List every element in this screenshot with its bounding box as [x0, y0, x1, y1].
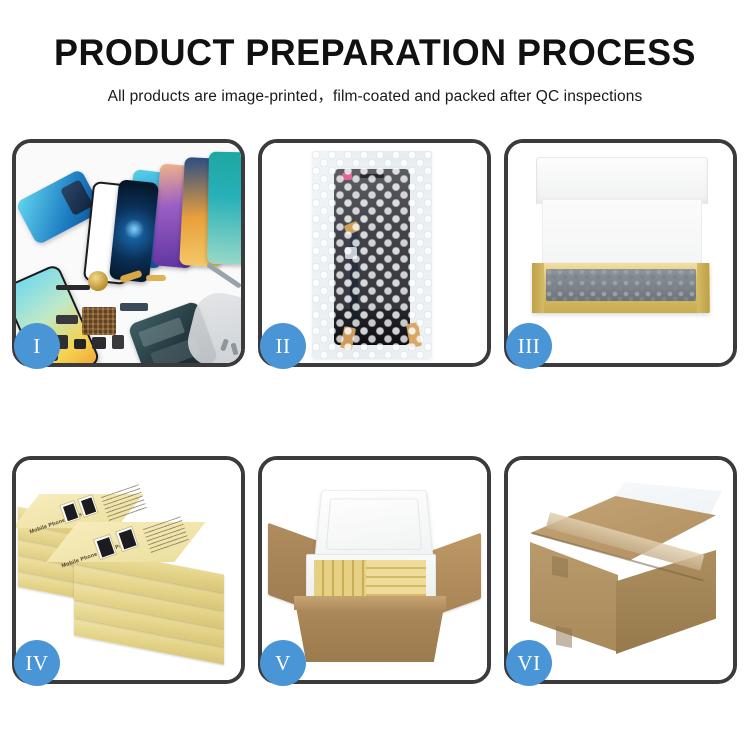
small-part-3	[92, 337, 106, 349]
bubble-wrap-bag	[312, 151, 432, 359]
phone-screen-teal	[207, 152, 241, 265]
step-badge-2: II	[260, 323, 306, 369]
small-part-2	[74, 339, 86, 349]
connector-pin-grid	[82, 307, 116, 335]
black-strip-part	[56, 285, 90, 290]
process-step-4[interactable]: Mobile Phone Spare Parts Mobile Phone Sp…	[12, 456, 245, 684]
small-module-part	[56, 315, 78, 324]
step-badge-5: V	[260, 640, 306, 686]
carton-left-face	[530, 542, 618, 652]
white-foam-sheet	[542, 199, 702, 273]
process-step-5[interactable]: V	[258, 456, 491, 684]
process-step-1[interactable]: I	[12, 139, 245, 367]
process-step-3[interactable]: III	[504, 139, 737, 367]
tray-right-side	[697, 263, 709, 313]
carton-front-edge	[294, 596, 446, 610]
grey-foam-padding	[546, 269, 696, 301]
white-box-lid	[536, 157, 708, 204]
page-header: PRODUCT PREPARATION PROCESS All products…	[0, 0, 750, 106]
small-part-4	[112, 335, 124, 349]
tweezers-tool	[206, 262, 241, 289]
bubble-texture	[312, 151, 432, 359]
flex-cable-dark	[120, 303, 148, 311]
flex-cable-gold-2	[146, 275, 166, 281]
window-screen-img	[118, 529, 136, 549]
step-badge-4: IV	[14, 640, 60, 686]
process-step-6[interactable]: VI	[504, 456, 737, 684]
step-badge-6: VI	[506, 640, 552, 686]
carton-handle-tab-top	[552, 556, 568, 578]
window-screen-img	[96, 537, 114, 557]
tray-left-side	[532, 263, 544, 313]
box-spec-text-left	[101, 484, 147, 522]
step-badge-3: III	[506, 323, 552, 369]
process-step-2[interactable]: II	[258, 139, 491, 367]
carton-handle-tab-bottom	[556, 626, 572, 648]
window-screen-img	[80, 497, 95, 515]
window-screen-img	[62, 503, 77, 521]
foam-lid-open	[314, 490, 434, 561]
step-badge-1: I	[14, 323, 60, 369]
gold-disc-part	[88, 271, 108, 291]
process-step-grid: I II	[12, 139, 738, 684]
page-subtitle: All products are image-printed，film-coat…	[0, 84, 750, 106]
page-title: PRODUCT PREPARATION PROCESS	[11, 34, 739, 71]
